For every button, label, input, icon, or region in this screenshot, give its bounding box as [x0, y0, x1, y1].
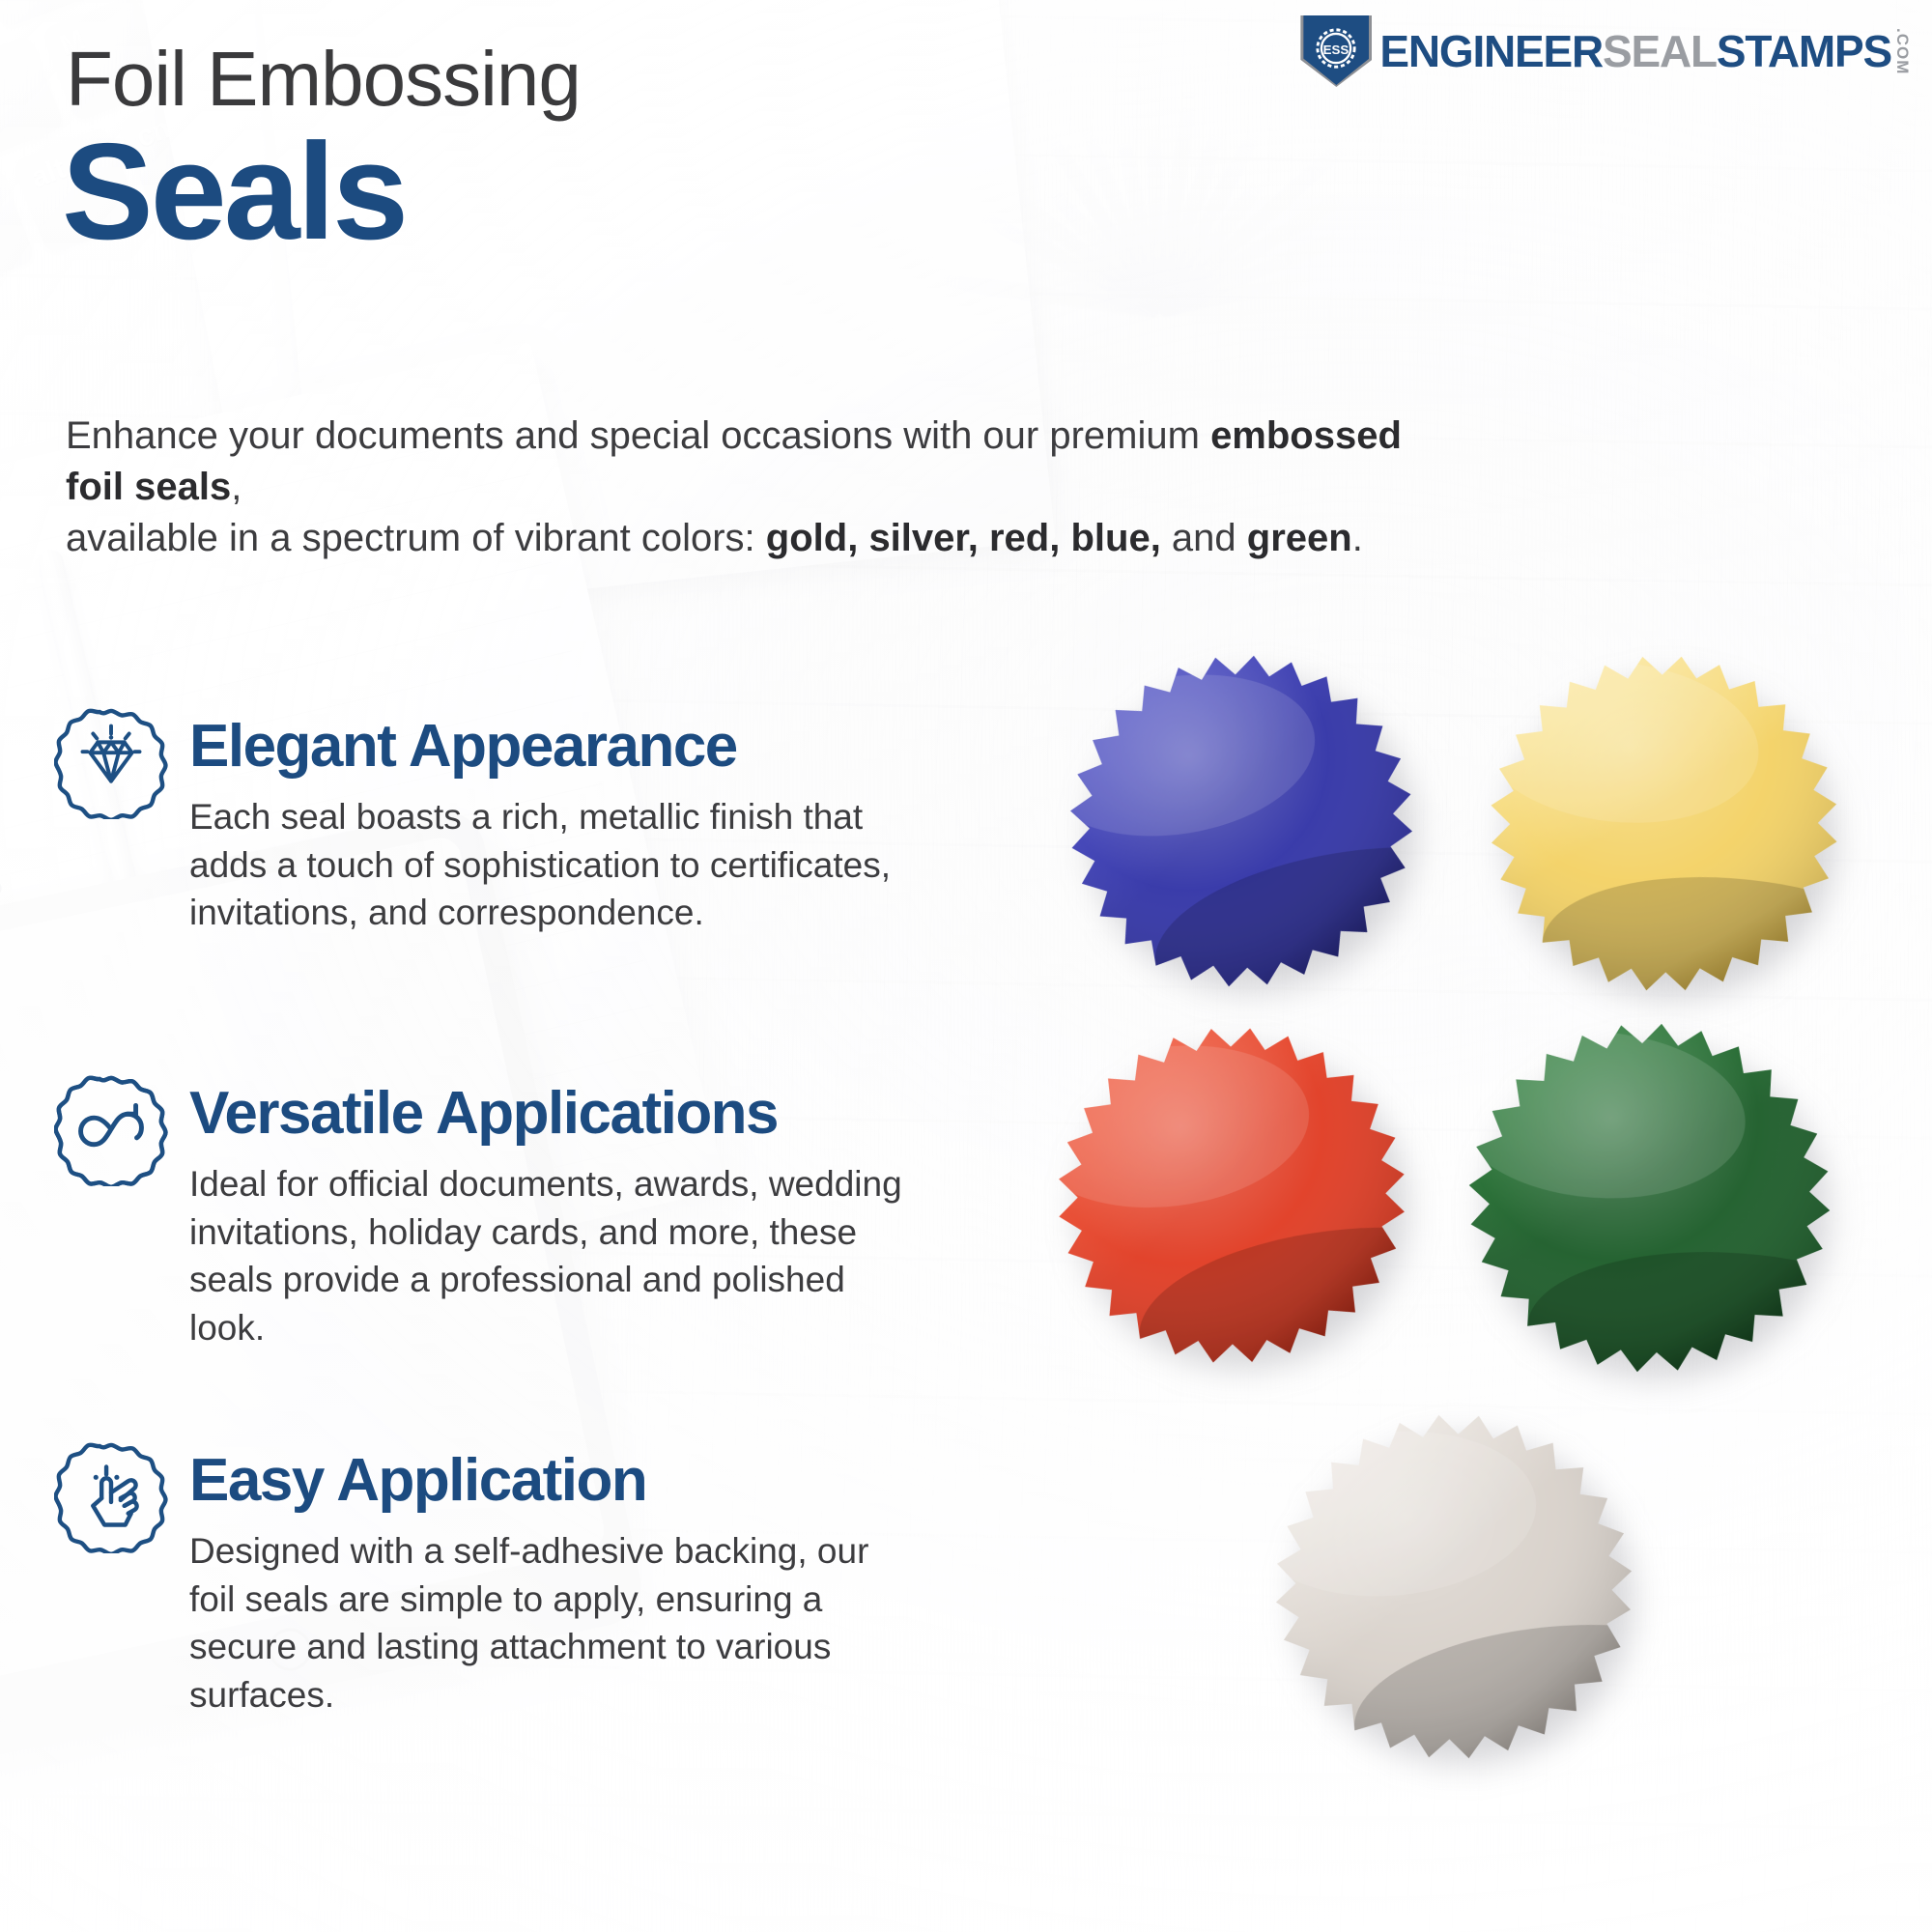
ess-monogram: ESS [1323, 43, 1350, 57]
seal-silver [1250, 1385, 1658, 1789]
feature-title: Elegant Appearance [189, 715, 923, 778]
intro-line2-e: . [1352, 517, 1363, 559]
wordmark-tld: .COM [1894, 28, 1911, 74]
feature-easy-application: Easy Application Designed with a self-ad… [54, 1449, 923, 1719]
seal-shape-green [1446, 997, 1853, 1400]
intro-paragraph: Enhance your documents and special occas… [66, 411, 1447, 565]
seal-green [1446, 997, 1853, 1400]
page-title: Seals [62, 124, 406, 261]
seal-shape-silver [1250, 1385, 1658, 1789]
intro-emphasis-green: green [1247, 517, 1352, 559]
tap-hand-badge-icon [54, 1439, 168, 1553]
diamond-gem-badge-icon [54, 705, 168, 819]
brand-wordmark: ENGINEER SEAL STAMPS .COM [1379, 28, 1911, 74]
seal-shape-blue [1037, 616, 1445, 1025]
feature-text: Designed with a self-adhesive backing, o… [189, 1527, 923, 1719]
brand-logo[interactable]: ESS ENGINEER SEAL STAMPS .COM [1300, 15, 1911, 87]
seal-blue [1037, 616, 1445, 1025]
wordmark-seal: SEAL [1603, 29, 1717, 73]
seal-gold [1460, 624, 1867, 1023]
wordmark-engineer: ENGINEER [1379, 29, 1603, 73]
feature-title: Easy Application [189, 1449, 923, 1512]
intro-line2-c: and [1161, 517, 1247, 559]
seal-red [1028, 993, 1436, 1398]
intro-emphasis-colors: gold, silver, red, blue, [766, 517, 1161, 559]
intro-line1-c: , [231, 466, 241, 508]
feature-text: Ideal for official documents, awards, we… [189, 1160, 923, 1351]
intro-line2-a: available in a spectrum of vibrant color… [66, 517, 766, 559]
ess-shield-icon: ESS [1300, 15, 1372, 87]
intro-line1-a: Enhance your documents and special occas… [66, 414, 1210, 457]
seal-shape-red [1028, 993, 1436, 1398]
feature-text: Each seal boasts a rich, metallic finish… [189, 793, 923, 937]
wordmark-stamps: STAMPS [1717, 29, 1891, 73]
infinity-loop-badge-icon [54, 1072, 168, 1186]
feature-title: Versatile Applications [189, 1082, 923, 1145]
feature-elegant-appearance: Elegant Appearance Each seal boasts a ri… [54, 715, 923, 937]
page-kicker: Foil Embossing [66, 41, 581, 118]
seal-shape-gold [1460, 624, 1867, 1023]
feature-versatile-applications: Versatile Applications Ideal for officia… [54, 1082, 923, 1351]
gear-icon: ESS [1308, 20, 1364, 76]
